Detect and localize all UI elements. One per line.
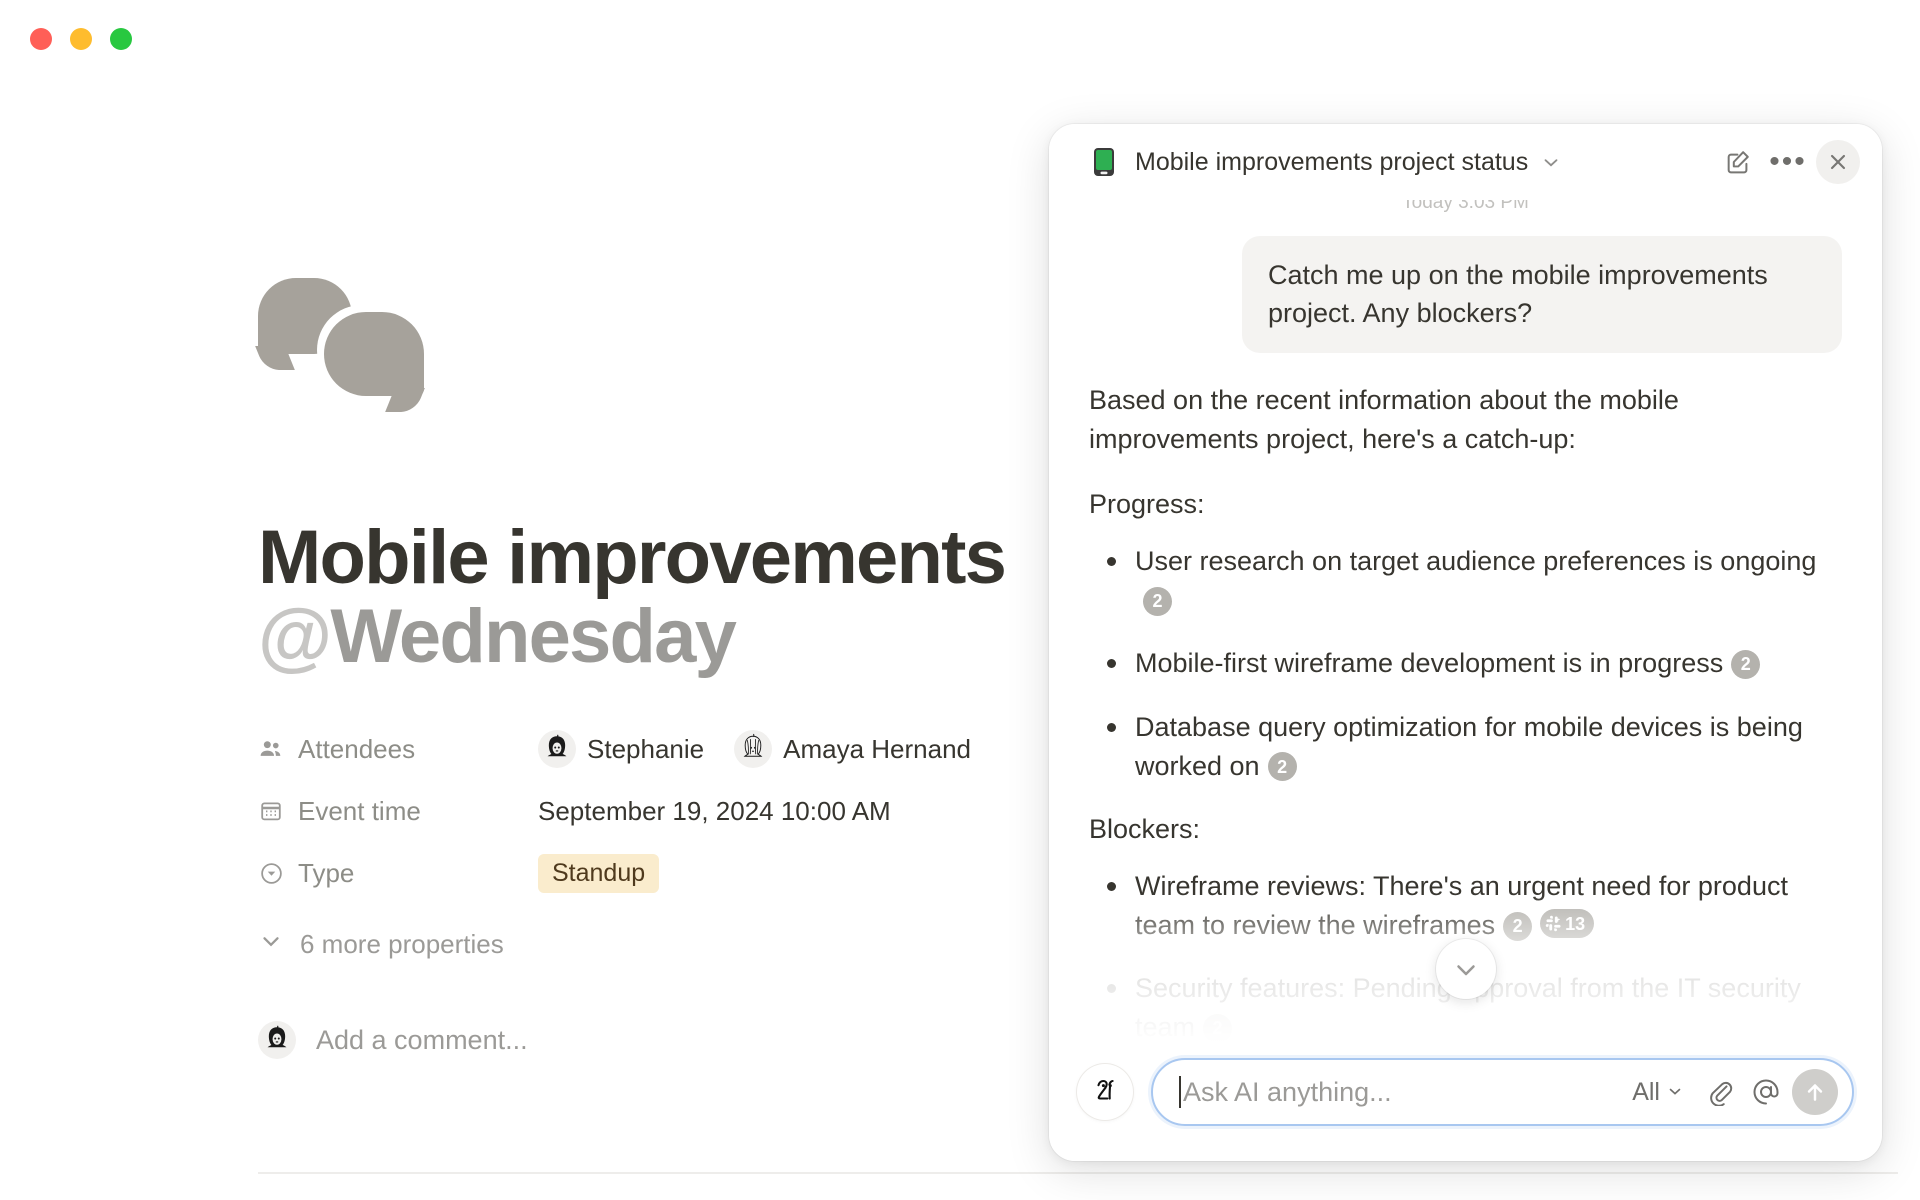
window-titlebar xyxy=(0,0,1920,78)
divider xyxy=(258,1172,1898,1174)
progress-list: User research on target audience prefere… xyxy=(1089,542,1842,786)
citation-badge[interactable]: 2 xyxy=(1731,650,1760,679)
compose-icon[interactable] xyxy=(1716,140,1760,184)
page-title-main: Mobile improvements xyxy=(258,515,1005,600)
property-value-type[interactable]: Standup xyxy=(538,854,659,893)
ai-side-panel: Mobile improvements project status ••• T… xyxy=(1049,124,1882,1161)
citation-badge[interactable]: 2 xyxy=(1503,912,1532,941)
at-icon[interactable] xyxy=(1746,1072,1786,1112)
more-properties-label: 6 more properties xyxy=(300,929,504,960)
attendee-stephanie[interactable]: Stephanie xyxy=(538,730,704,768)
ellipsis-icon[interactable]: ••• xyxy=(1766,140,1810,184)
status-badge: Standup xyxy=(538,854,659,893)
user-message-text: Catch me up on the mobile improvements p… xyxy=(1242,236,1842,353)
slack-citation-badge[interactable]: 13 xyxy=(1540,909,1594,938)
chevron-down-icon[interactable] xyxy=(1540,151,1562,173)
speech-bubbles-icon xyxy=(258,278,428,388)
chevron-down-icon xyxy=(258,928,284,961)
property-label-attendees: Attendees xyxy=(298,734,415,765)
page-title-at: @ xyxy=(258,594,330,679)
ai-intro: Based on the recent information about th… xyxy=(1089,381,1842,459)
window-controls xyxy=(30,28,132,50)
window-minimize-button[interactable] xyxy=(70,28,92,50)
app-window: Mobile improvements @Wednesday Attend xyxy=(0,0,1920,1200)
send-button[interactable] xyxy=(1792,1069,1838,1115)
list-item: User research on target audience prefere… xyxy=(1089,542,1842,620)
panel-header: Mobile improvements project status ••• xyxy=(1049,124,1882,200)
panel-title: Mobile improvements project status xyxy=(1135,148,1528,177)
avatar xyxy=(258,1021,296,1059)
window-close-button[interactable] xyxy=(30,28,52,50)
citation-badge[interactable]: 2 xyxy=(1268,752,1297,781)
citation-badge[interactable]: 2 xyxy=(1143,587,1172,616)
notion-ai-face-icon[interactable] xyxy=(1077,1064,1133,1120)
attendee-amaya[interactable]: Amaya Hernand xyxy=(734,730,971,768)
list-item: Database query optimization for mobile d… xyxy=(1089,708,1842,786)
composer: Ask AI anything... All xyxy=(1049,1043,1882,1161)
property-label-event-time: Event time xyxy=(298,796,421,827)
section-heading-blockers: Blockers: xyxy=(1089,810,1842,849)
close-icon[interactable] xyxy=(1816,140,1860,184)
scope-label: All xyxy=(1632,1078,1660,1107)
property-value-event-time[interactable]: September 19, 2024 10:00 AM xyxy=(538,796,891,827)
list-item: Mobile-first wireframe development is in… xyxy=(1089,644,1842,683)
property-label-type: Type xyxy=(298,858,354,889)
scope-dropdown[interactable]: All xyxy=(1632,1078,1684,1107)
user-message: Catch me up on the mobile improvements p… xyxy=(1089,236,1842,353)
conversation-thread[interactable]: Today 3:03 PM Catch me up on the mobile … xyxy=(1049,200,1882,1043)
scroll-to-bottom-button[interactable] xyxy=(1436,939,1496,999)
avatar xyxy=(538,730,576,768)
select-icon xyxy=(258,860,284,886)
page-title-day: Wednesday xyxy=(330,594,735,679)
list-item: Wireframe reviews: There's an urgent nee… xyxy=(1089,867,1842,945)
attendee-name: Amaya Hernand xyxy=(783,734,971,765)
text-cursor xyxy=(1179,1076,1181,1108)
people-icon xyxy=(258,736,284,762)
avatar xyxy=(734,730,772,768)
window-maximize-button[interactable] xyxy=(110,28,132,50)
attendee-name: Stephanie xyxy=(587,734,704,765)
section-heading-progress: Progress: xyxy=(1089,485,1842,524)
property-value-attendees[interactable]: Stephanie xyxy=(538,730,971,768)
comment-input[interactable]: Add a comment... xyxy=(316,1025,528,1056)
message-timestamp: Today 3:03 PM xyxy=(1089,200,1842,214)
citation-badge[interactable]: 2 xyxy=(1203,1014,1232,1043)
chevron-down-icon xyxy=(1666,1078,1684,1107)
ask-ai-placeholder: Ask AI anything... xyxy=(1183,1077,1392,1108)
mobile-phone-icon xyxy=(1089,147,1119,177)
calendar-icon xyxy=(258,798,284,824)
ask-ai-input[interactable]: Ask AI anything... All xyxy=(1151,1058,1854,1126)
paperclip-icon[interactable] xyxy=(1700,1072,1740,1112)
